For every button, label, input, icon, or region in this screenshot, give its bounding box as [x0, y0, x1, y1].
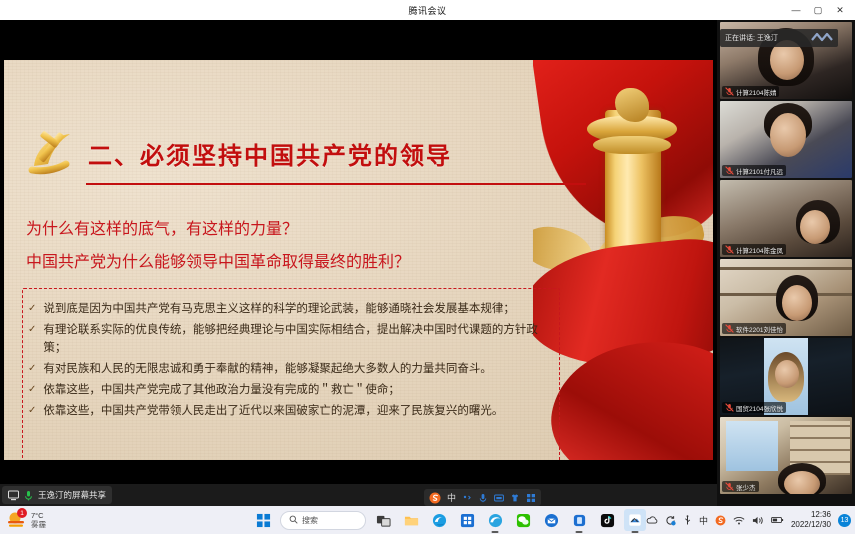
task-view-icon[interactable]	[372, 509, 394, 531]
participant-video-strip: 正在讲话: 王逸汀 计算2104陈婧	[717, 20, 855, 506]
list-item-text: 有对民族和人民的无限忠诚和勇于奉献的精神，能够凝聚起绝大多数人的力量共同奋斗。	[43, 360, 558, 378]
check-icon: ✓	[28, 300, 36, 318]
hammer-and-sickle-icon	[26, 122, 80, 178]
onedrive-icon[interactable]	[646, 515, 658, 525]
list-item: ✓ 有对民族和人民的无限忠诚和勇于奉献的精神，能够凝聚起绝大多数人的力量共同奋斗…	[28, 360, 558, 378]
file-explorer-icon[interactable]	[400, 509, 422, 531]
list-item: ✓ 有理论联系实际的优良传统，能够把经典理论与中国实际相结合，提出解决中国时代课…	[28, 321, 558, 357]
participant-tile[interactable]: 国贸2104张欣悦	[720, 338, 852, 415]
chinese-mode-icon[interactable]: 中	[447, 491, 456, 504]
update-icon[interactable]	[665, 515, 676, 526]
chevron-up-icon[interactable]	[630, 516, 639, 525]
mic-muted-icon	[725, 402, 734, 413]
list-item: ✓ 说到底是因为中国共产党有马克思主义这样的科学的理论武装，能够通晓社会发展基本…	[28, 300, 558, 318]
participant-tile[interactable]: 正在讲话: 王逸汀 计算2104陈婧	[720, 22, 852, 99]
weather-temperature: 7°C	[31, 511, 46, 520]
windows-start-icon[interactable]	[252, 509, 274, 531]
participant-name: 软件2201刘佳怡	[736, 324, 783, 334]
skin-icon[interactable]	[510, 493, 520, 503]
participant-name-bar: 计算2101付凡远	[722, 165, 786, 176]
monitor-icon	[8, 490, 19, 501]
clock-time: 12:36	[811, 510, 831, 520]
shared-screen-area: 二、必须坚持中国共产党的领导 为什么有这样的底气，有这样的力量？ 中国共产党为什…	[0, 20, 717, 484]
participant-name-bar: 计算2104陈婧	[722, 86, 779, 97]
participant-name-bar: 张少杰	[722, 481, 759, 492]
taskbar-center-group: 搜索	[252, 506, 646, 534]
microphone-icon	[23, 490, 34, 501]
soft-keyboard-icon[interactable]	[494, 493, 504, 503]
check-icon: ✓	[28, 381, 36, 399]
wechat-icon[interactable]	[512, 509, 534, 531]
active-speaker-banner: 正在讲话: 王逸汀	[720, 29, 838, 47]
search-input[interactable]: 搜索	[280, 511, 366, 530]
participant-name-bar: 计算2104陈金凤	[722, 244, 786, 255]
mic-muted-icon	[725, 481, 734, 492]
screen-share-label: 王逸汀的屏幕共享	[38, 489, 106, 501]
mic-muted-icon	[725, 323, 734, 334]
participant-name: 计算2104陈婧	[736, 87, 776, 97]
participant-tile[interactable]: 计算2101付凡远	[720, 101, 852, 178]
list-item-text: 依靠这些，中国共产党带领人民走出了近代以来国破家亡的泥潭，迎来了民族复兴的曙光。	[43, 402, 558, 420]
participant-name-bar: 软件2201刘佳怡	[722, 323, 786, 334]
mail-icon[interactable]	[540, 509, 562, 531]
ime-indicator[interactable]: 中	[699, 514, 708, 527]
clock[interactable]: 12:36 2022/12/30	[791, 510, 831, 530]
edge-browser-icon[interactable]	[484, 509, 506, 531]
windows-taskbar: 1 7°C 雾霾 搜索	[0, 506, 855, 534]
participant-tile[interactable]: 计算2104陈金凤	[720, 180, 852, 257]
participant-name: 计算2104陈金凤	[736, 245, 783, 255]
usb-icon[interactable]	[683, 515, 692, 526]
participant-name: 张少杰	[736, 482, 756, 492]
list-item-text: 依靠这些，中国共产党完成了其他政治力量没有完成的＂救亡＂使命；	[43, 381, 558, 399]
participant-tile[interactable]: 软件2201刘佳怡	[720, 259, 852, 336]
tiktok-icon[interactable]	[596, 509, 618, 531]
voice-input-icon[interactable]	[478, 493, 488, 503]
slide-decoration	[533, 60, 713, 460]
presentation-slide: 二、必须坚持中国共产党的领导 为什么有这样的底气，有这样的力量？ 中国共产党为什…	[4, 60, 713, 460]
weather-description: 雾霾	[31, 520, 46, 529]
minimize-button[interactable]: —	[785, 0, 807, 20]
list-item-text: 有理论联系实际的优良传统，能够把经典理论与中国实际相结合，提出解决中国时代课题的…	[43, 321, 558, 357]
audio-wave-icon	[811, 32, 833, 45]
maximize-button[interactable]: ▢	[807, 0, 829, 20]
volume-icon[interactable]	[752, 515, 764, 526]
participant-name: 计算2101付凡远	[736, 166, 783, 176]
edge-icon[interactable]	[428, 509, 450, 531]
battery-icon[interactable]	[771, 515, 784, 525]
punctuation-icon[interactable]	[462, 493, 472, 503]
slide-title: 二、必须坚持中国共产党的领导	[88, 136, 452, 171]
list-item: ✓ 依靠这些，中国共产党完成了其他政治力量没有完成的＂救亡＂使命；	[28, 381, 558, 399]
weather-haze-icon: 1	[6, 510, 26, 530]
title-divider	[86, 183, 586, 185]
search-placeholder: 搜索	[302, 515, 318, 526]
slide-question-1: 为什么有这样的底气，有这样的力量？	[26, 215, 298, 239]
mic-muted-icon	[725, 244, 734, 255]
weather-widget[interactable]: 1 7°C 雾霾	[6, 508, 98, 532]
slide-question-2: 中国共产党为什么能够领导中国革命取得最终的胜利？	[26, 248, 410, 272]
window-title: 腾讯会议	[408, 4, 446, 17]
screen-share-indicator[interactable]: 王逸汀的屏幕共享	[2, 486, 112, 504]
participant-name-bar: 国贸2104张欣悦	[722, 402, 786, 413]
close-button[interactable]: ✕	[829, 0, 851, 20]
pillar-cap-lower-icon	[593, 136, 671, 154]
notification-badge[interactable]: 13	[838, 514, 851, 527]
check-icon: ✓	[28, 321, 36, 339]
system-tray: 中	[630, 506, 851, 534]
check-icon: ✓	[28, 360, 36, 378]
search-icon	[289, 515, 298, 526]
active-speaker-label: 正在讲话: 王逸汀	[725, 33, 778, 43]
weather-badge: 1	[17, 508, 27, 518]
sogou-ime-toolbar[interactable]: 中	[424, 489, 541, 506]
line-icon[interactable]	[568, 509, 590, 531]
list-item-text: 说到底是因为中国共产党有马克思主义这样的科学的理论武装，能够通晓社会发展基本规律…	[43, 300, 558, 318]
toolbox-icon[interactable]	[526, 493, 536, 503]
bullet-list: ✓ 说到底是因为中国共产党有马克思主义这样的科学的理论武装，能够通晓社会发展基本…	[28, 300, 558, 423]
microsoft-store-icon[interactable]	[456, 509, 478, 531]
tencent-meeting-window: 腾讯会议 — ▢ ✕	[0, 0, 855, 506]
sogou-icon[interactable]	[715, 515, 726, 526]
window-controls: — ▢ ✕	[785, 0, 851, 20]
clock-date: 2022/12/30	[791, 520, 831, 530]
sogou-logo-icon[interactable]	[429, 492, 441, 504]
window-titlebar: 腾讯会议 — ▢ ✕	[0, 0, 855, 20]
mic-muted-icon	[725, 86, 734, 97]
participant-tile[interactable]: 张少杰	[720, 417, 852, 494]
check-icon: ✓	[28, 402, 36, 420]
participant-name: 国贸2104张欣悦	[736, 403, 783, 413]
mic-muted-icon	[725, 165, 734, 176]
list-item: ✓ 依靠这些，中国共产党带领人民走出了近代以来国破家亡的泥潭，迎来了民族复兴的曙…	[28, 402, 558, 420]
wifi-icon[interactable]	[733, 515, 745, 526]
